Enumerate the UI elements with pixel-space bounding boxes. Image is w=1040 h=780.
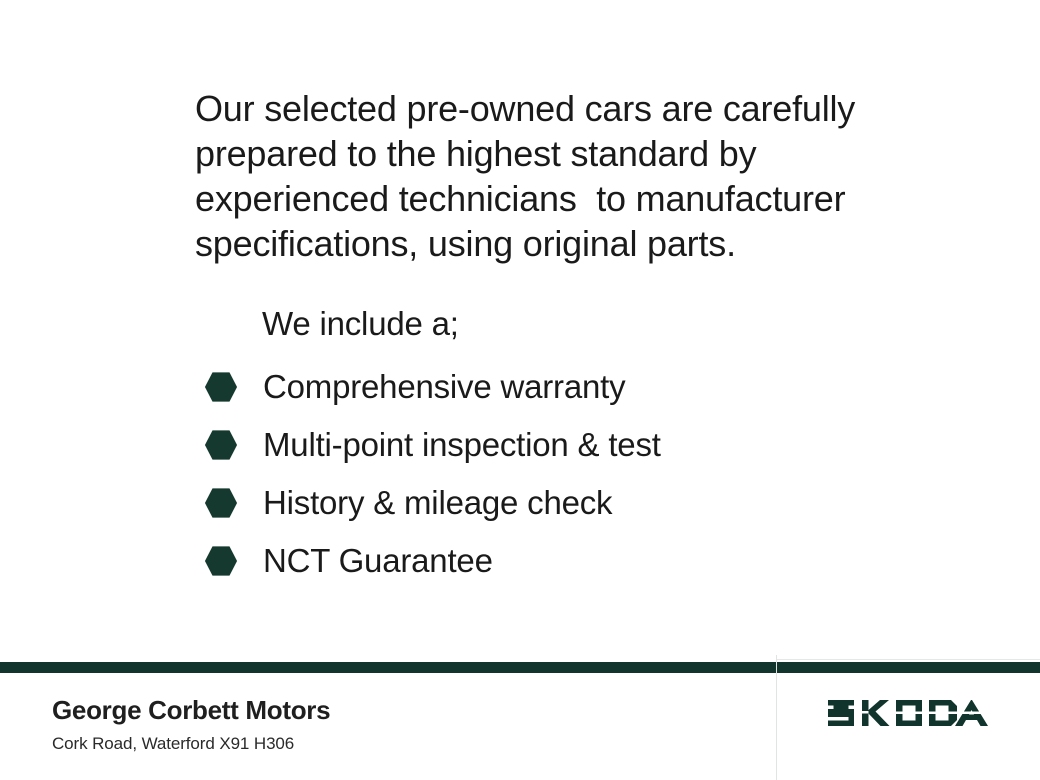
dealer-name: George Corbett Motors [52,694,330,726]
list-item: Comprehensive warranty [196,358,896,416]
footer-divider-bar [0,662,1040,673]
list-item-label: Multi-point inspection & test [238,425,661,465]
include-intro-text: We include a; [262,303,459,345]
list-item: NCT Guarantee [196,532,896,590]
footer-hairline [776,659,1040,660]
list-item-label: Comprehensive warranty [238,367,625,407]
footer-vertical-separator [776,655,777,780]
benefits-list: Comprehensive warranty Multi-point inspe… [196,358,896,590]
slide-canvas: Our selected pre-owned cars are carefull… [0,0,1040,780]
hexagon-bullet-icon [196,486,238,520]
list-item: History & mileage check [196,474,896,532]
hexagon-bullet-icon [196,370,238,404]
dealer-address: Cork Road, Waterford X91 H306 [52,732,330,756]
headline-paragraph: Our selected pre-owned cars are carefull… [195,86,885,266]
skoda-wordmark-logo [826,696,990,730]
list-item-label: NCT Guarantee [238,541,493,581]
dealer-info-block: George Corbett Motors Cork Road, Waterfo… [52,694,330,756]
hexagon-bullet-icon [196,428,238,462]
list-item: Multi-point inspection & test [196,416,896,474]
hexagon-bullet-icon [196,544,238,578]
list-item-label: History & mileage check [238,483,612,523]
